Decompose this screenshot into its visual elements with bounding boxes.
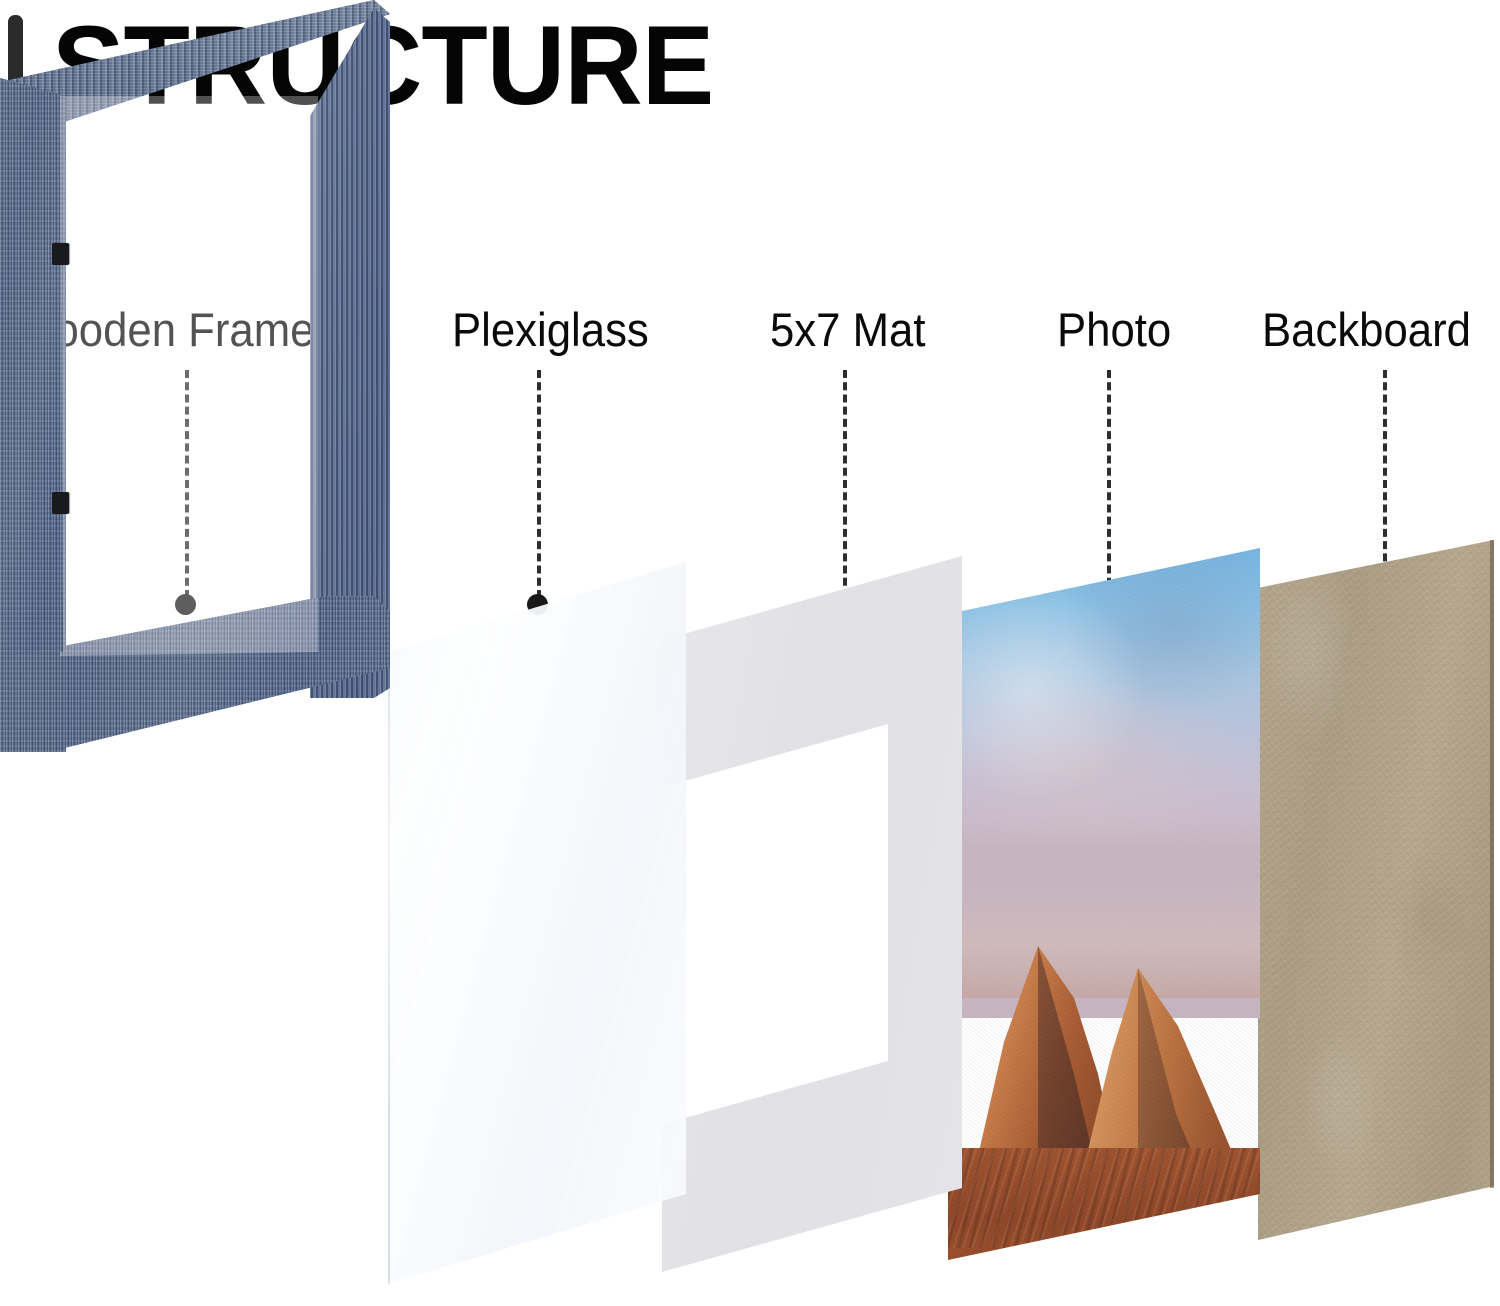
backboard-surface: [1258, 540, 1494, 1240]
backboard-right-edge: [1490, 540, 1494, 1188]
exploded-layer-stage: [0, 0, 1500, 1306]
photo-desert-floor: [948, 1248, 1260, 1260]
layer-wooden-frame: [0, 0, 390, 752]
backboard-texture: [1258, 540, 1494, 1240]
frame-clip-upper: [52, 243, 69, 265]
frame-inner-bevel: [60, 96, 320, 656]
photo-badlands: [948, 1148, 1260, 1260]
frame-clip-lower: [52, 492, 69, 514]
layer-mat: [662, 556, 962, 1272]
photo-haze-band: [948, 878, 1260, 998]
frame-stile-right: [310, 8, 390, 698]
layer-backboard: [1258, 540, 1494, 1240]
layer-plexiglass: [388, 562, 688, 1284]
layer-photo: [948, 548, 1260, 1260]
